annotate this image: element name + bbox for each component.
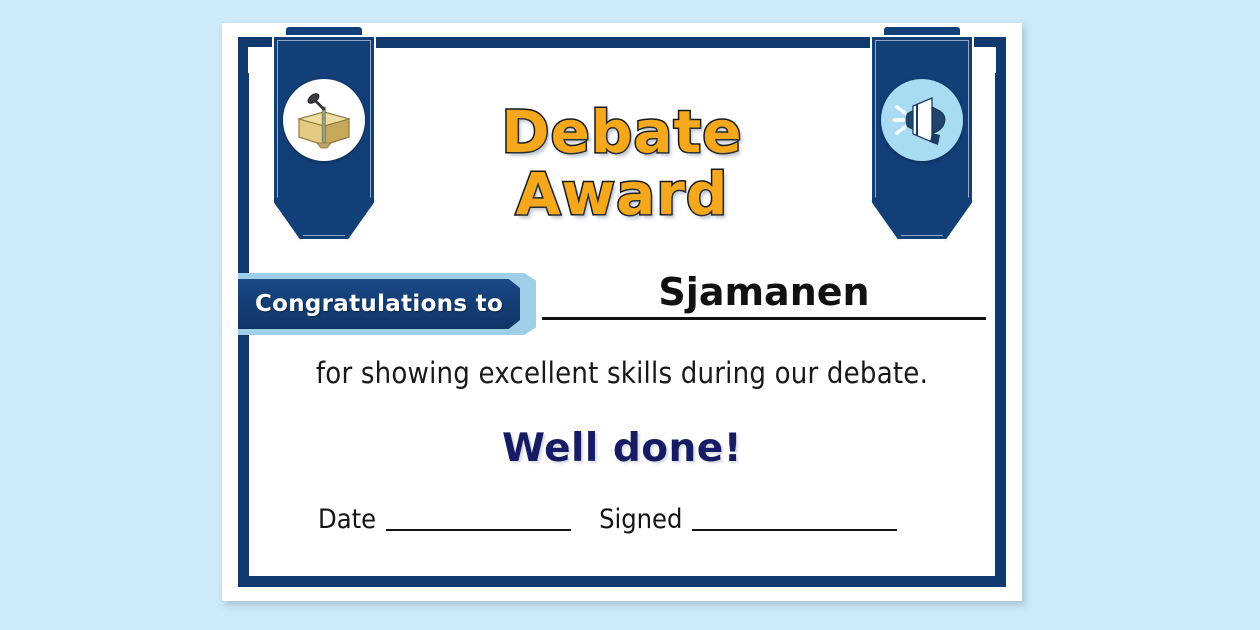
recipient-name-underline — [542, 317, 986, 320]
date-input-line[interactable] — [386, 529, 571, 531]
certificate-page: Debate Award Congratulations to Sjamanen… — [222, 23, 1022, 601]
signed-input-line[interactable] — [692, 529, 897, 531]
podium-microphone-icon — [283, 79, 365, 161]
congratulations-ribbon: Congratulations to — [238, 273, 536, 335]
megaphone-icon — [881, 79, 963, 161]
recipient-name-field[interactable]: Sjamanen — [542, 269, 986, 320]
banner-right — [870, 35, 974, 241]
banner-left — [272, 35, 376, 241]
signed-label: Signed — [599, 504, 682, 537]
recipient-name-text: Sjamanen — [542, 269, 986, 317]
ribbon-label: Congratulations to — [255, 291, 503, 317]
date-label: Date — [318, 504, 376, 537]
ribbon-face: Congratulations to — [238, 279, 520, 329]
signature-row: Date Signed — [318, 504, 952, 537]
well-done-text: Well done! — [222, 426, 1022, 471]
certificate-body-text: for showing excellent skills during our … — [222, 356, 1022, 390]
certificate-stage: Debate Award Congratulations to Sjamanen… — [0, 0, 1260, 630]
